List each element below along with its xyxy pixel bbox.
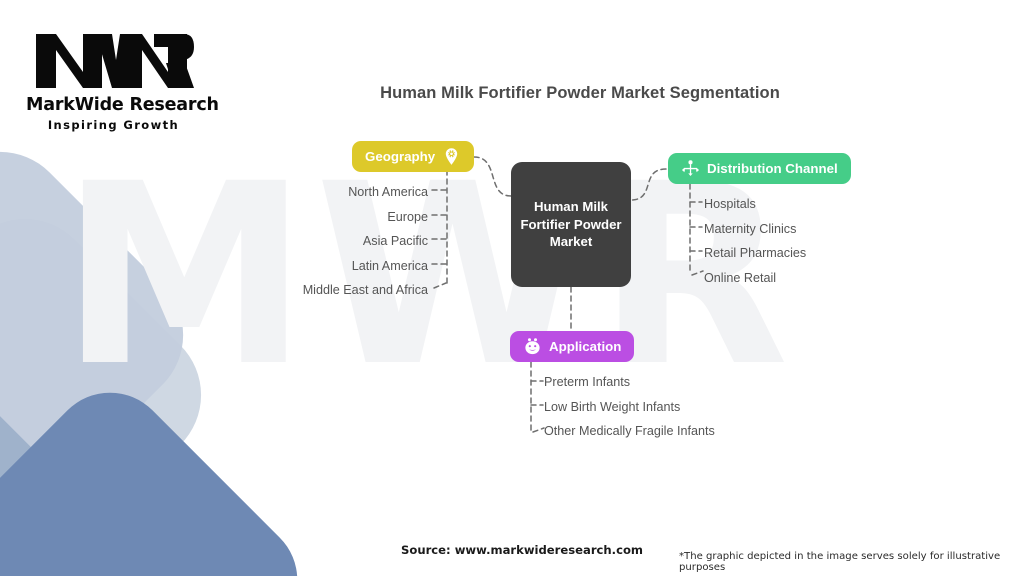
background-shape-slate xyxy=(0,346,114,576)
list-item: Low Birth Weight Infants xyxy=(522,395,782,420)
logo-tagline: Inspiring Growth xyxy=(26,118,201,132)
list-item: Online Retail xyxy=(682,266,912,291)
disclaimer-label: *The graphic depicted in the image serve… xyxy=(679,551,1024,573)
list-item: North America xyxy=(225,180,450,205)
list-item: Maternity Clinics xyxy=(682,217,912,242)
list-item: Other Medically Fragile Infants xyxy=(522,419,782,444)
segmentation-infographic: MWR MarkWide Research Inspiring Growth H… xyxy=(0,0,1024,576)
center-node: Human Milk Fortifier Powder Market xyxy=(511,162,631,287)
list-item: Middle East and Africa xyxy=(225,278,450,303)
map-pin-gear-icon xyxy=(442,147,461,166)
list-item: Preterm Infants xyxy=(522,370,782,395)
source-label: Source: www.markwideresearch.com xyxy=(401,543,643,557)
background-shape-dark xyxy=(0,368,322,576)
branch-label-geography: Geography xyxy=(365,149,435,164)
list-item: Europe xyxy=(225,205,450,230)
background-shape-mid xyxy=(0,123,212,547)
list-item: Retail Pharmacies xyxy=(682,241,912,266)
branch-items-distribution-channel: Hospitals Maternity Clinics Retail Pharm… xyxy=(682,192,912,290)
background-shape-light xyxy=(0,190,230,576)
branch-label-application: Application xyxy=(549,339,621,354)
list-item: Asia Pacific xyxy=(225,229,450,254)
list-item: Hospitals xyxy=(682,192,912,217)
branch-items-application: Preterm Infants Low Birth Weight Infants… xyxy=(522,370,782,444)
branch-items-geography: North America Europe Asia Pacific Latin … xyxy=(225,180,450,303)
page-title: Human Milk Fortifier Powder Market Segme… xyxy=(0,84,1024,103)
brand-logo: MarkWide Research Inspiring Growth xyxy=(26,30,201,132)
branch-badge-distribution-channel[interactable]: Distribution Channel xyxy=(668,153,851,184)
branch-label-distribution-channel: Distribution Channel xyxy=(707,161,838,176)
list-item: Latin America xyxy=(225,254,450,279)
sitemap-icon xyxy=(681,159,700,178)
baby-face-icon xyxy=(523,337,542,356)
branch-badge-geography[interactable]: Geography xyxy=(352,141,474,172)
branch-badge-application[interactable]: Application xyxy=(510,331,634,362)
